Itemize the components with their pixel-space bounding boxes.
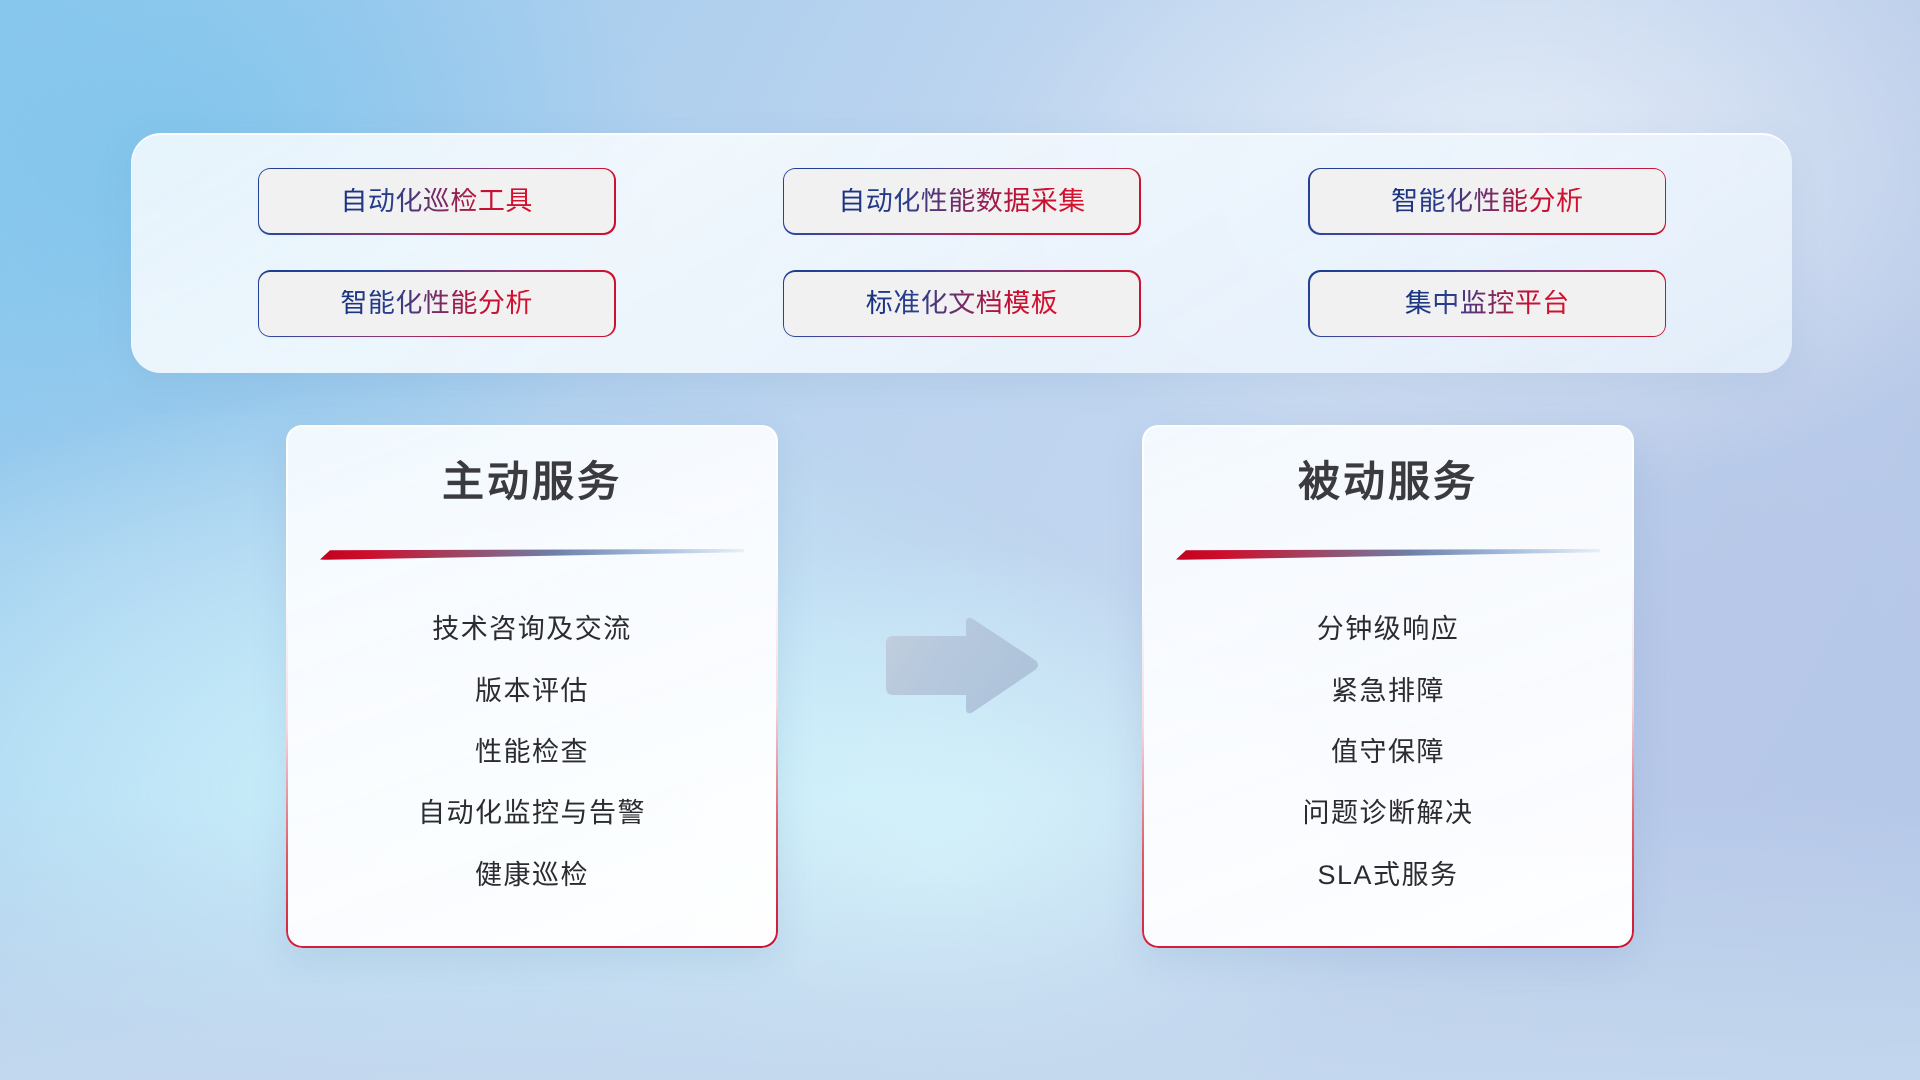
capability-pill-3[interactable]: 智能化性能分析 [259,272,614,336]
capability-panel: 自动化巡检工具 自动化性能数据采集 智能化性能分析 智能化性能分析 [131,133,1792,373]
card-item-list: 技术咨询及交流 版本评估 性能检查 自动化监控与告警 健康巡检 [286,589,778,920]
capability-pill-label: 集中监控平台 [1405,290,1570,317]
capability-pill-surface[interactable]: 智能化性能分析 [259,272,614,336]
card-list-item: 健康巡检 [475,862,589,889]
capability-pill-surface[interactable]: 自动化性能数据采集 [784,169,1139,233]
card-list-item: 分钟级响应 [1317,616,1460,643]
capability-pill-label: 自动化性能数据采集 [838,188,1086,215]
card-divider [1176,549,1600,560]
card-list-item: 自动化监控与告警 [418,800,646,827]
capability-pill-label: 智能化性能分析 [1391,188,1584,215]
capability-pill-surface[interactable]: 标准化文档模板 [784,272,1139,336]
capability-pill-label: 智能化性能分析 [340,290,533,317]
capability-pill-label: 自动化巡检工具 [340,188,533,215]
service-card-reactive[interactable]: 被动服务 分钟级响应 紧急排障 值守保障 [1142,425,1634,948]
card-list-item: 问题诊断解决 [1303,800,1474,827]
card-item-list: 分钟级响应 紧急排障 值守保障 问题诊断解决 SLA式服务 [1142,589,1634,920]
card-title: 主动服务 [286,461,778,503]
card-list-item: SLA式服务 [1317,862,1458,889]
capability-pill-0[interactable]: 自动化巡检工具 [259,169,614,233]
arrow-right-icon [872,614,1040,718]
card-list-item: 紧急排障 [1331,678,1445,705]
capability-pill-grid: 自动化巡检工具 自动化性能数据采集 智能化性能分析 智能化性能分析 [132,134,1792,373]
service-card-proactive[interactable]: 主动服务 技术咨询及交流 版本评估 性能检查 [286,425,778,948]
capability-pill-surface[interactable]: 集中监控平台 [1310,272,1665,336]
card-list-item: 性能检查 [475,739,589,766]
capability-pill-2[interactable]: 智能化性能分析 [1310,169,1665,233]
slide-canvas: 自动化巡检工具 自动化性能数据采集 智能化性能分析 智能化性能分析 [0,0,1920,1080]
card-list-item: 值守保障 [1331,739,1445,766]
card-list-item: 版本评估 [475,678,589,705]
capability-pill-4[interactable]: 标准化文档模板 [784,272,1139,336]
card-title: 被动服务 [1142,461,1634,503]
capability-pill-label: 标准化文档模板 [866,290,1059,317]
capability-pill-5[interactable]: 集中监控平台 [1310,272,1665,336]
card-list-item: 技术咨询及交流 [432,616,632,643]
capability-pill-1[interactable]: 自动化性能数据采集 [784,169,1139,233]
card-divider [320,549,744,560]
capability-pill-surface[interactable]: 智能化性能分析 [1310,169,1665,233]
capability-pill-surface[interactable]: 自动化巡检工具 [259,169,614,233]
